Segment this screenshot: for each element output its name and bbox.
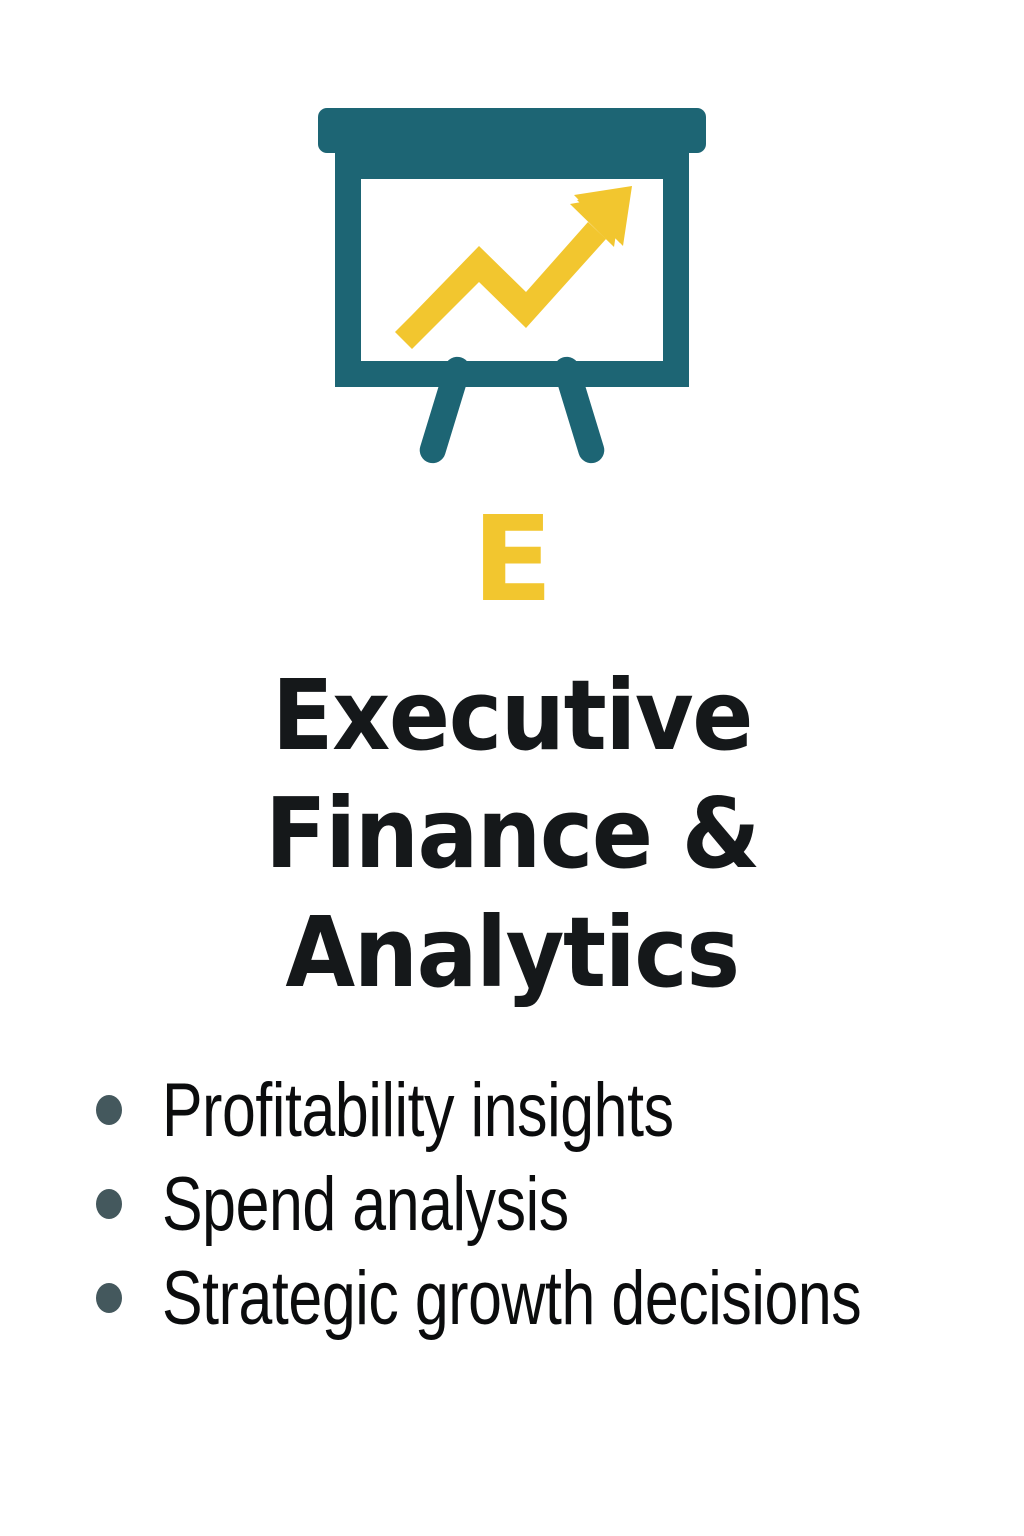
list-item: Strategic growth decisions bbox=[96, 1258, 1010, 1338]
list-item: Spend analysis bbox=[96, 1164, 1010, 1244]
bullet-dot-icon bbox=[96, 1283, 122, 1313]
page-title-line-1: Executive bbox=[121, 657, 902, 775]
list-item-label: Strategic growth decisions bbox=[162, 1259, 861, 1338]
page-title-line-2: Finance & bbox=[121, 775, 902, 893]
executive-finance-analytics-card: E Executive Finance & Analytics Profitab… bbox=[0, 0, 1024, 1536]
feature-list: Profitability insights Spend analysis St… bbox=[0, 1070, 1024, 1352]
presentation-board-growth-chart-icon bbox=[312, 100, 712, 465]
board-frame-icon bbox=[335, 153, 689, 387]
list-item-label: Spend analysis bbox=[162, 1165, 569, 1244]
bullet-dot-icon bbox=[96, 1095, 122, 1125]
growth-arrow-icon bbox=[395, 186, 632, 349]
bullet-dot-icon bbox=[96, 1189, 122, 1219]
page-title-line-3: Analytics bbox=[121, 894, 902, 1012]
board-top-bar-icon bbox=[318, 108, 706, 153]
badge-letter: E bbox=[472, 510, 552, 609]
list-item: Profitability insights bbox=[96, 1070, 1010, 1150]
page-title: Executive Finance & Analytics bbox=[121, 657, 902, 1012]
list-item-label: Profitability insights bbox=[162, 1071, 674, 1150]
